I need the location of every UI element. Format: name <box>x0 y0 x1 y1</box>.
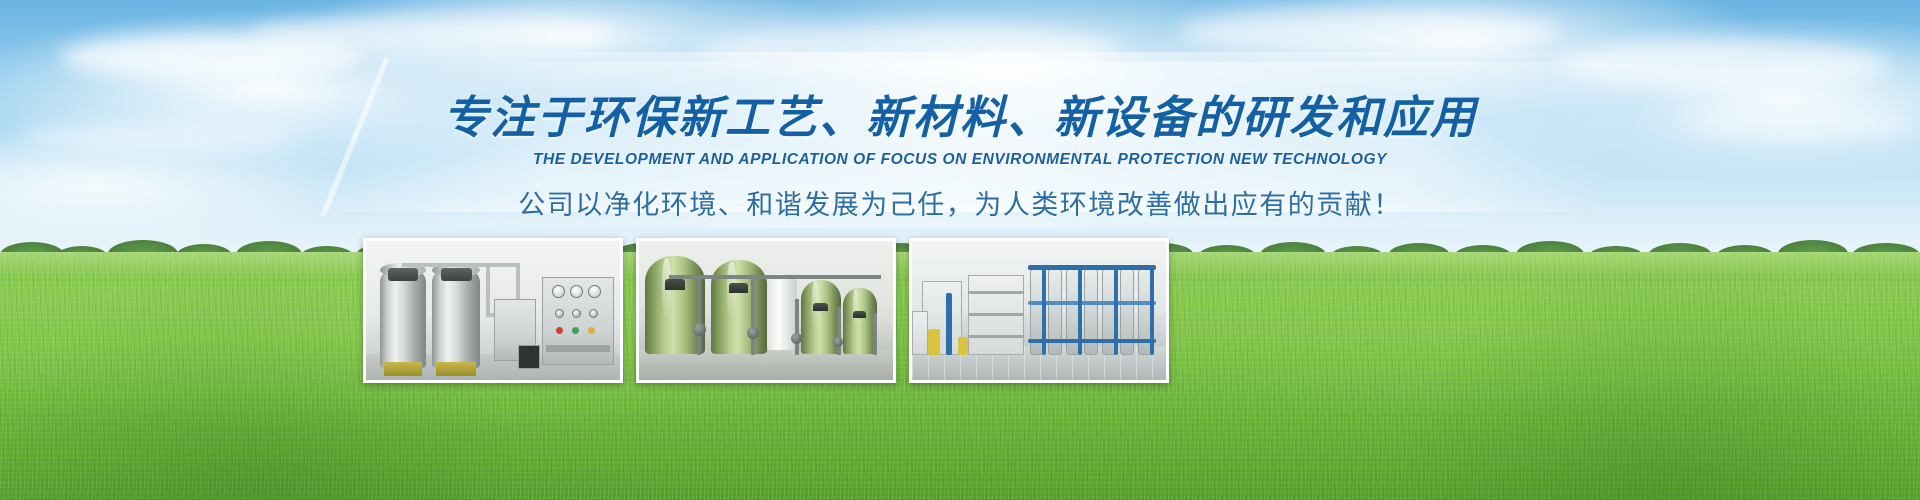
photo-panel-group <box>363 238 1169 383</box>
promo-banner: 专注于环保新工艺、新材料、新设备的研发和应用 THE DEVELOPMENT A… <box>0 0 1920 500</box>
banner-tagline: 公司以净化环境、和谐发展为己任，为人类环境改善做出应有的贡献！ <box>0 183 1920 222</box>
photo-panel-stainless-water-treatment[interactable] <box>363 238 623 383</box>
photo-panel-ro-system-hall[interactable] <box>909 238 1169 383</box>
banner-subtitle-english: THE DEVELOPMENT AND APPLICATION OF FOCUS… <box>0 151 1920 169</box>
stainless-tank-photo <box>366 241 620 380</box>
frp-tank-row-photo <box>639 241 893 380</box>
banner-text-block: 专注于环保新工艺、新材料、新设备的研发和应用 THE DEVELOPMENT A… <box>0 92 1920 222</box>
banner-headline: 专注于环保新工艺、新材料、新设备的研发和应用 <box>0 92 1920 144</box>
ro-system-hall-photo <box>912 241 1166 380</box>
photo-panel-frp-filter-tanks[interactable] <box>636 238 896 383</box>
